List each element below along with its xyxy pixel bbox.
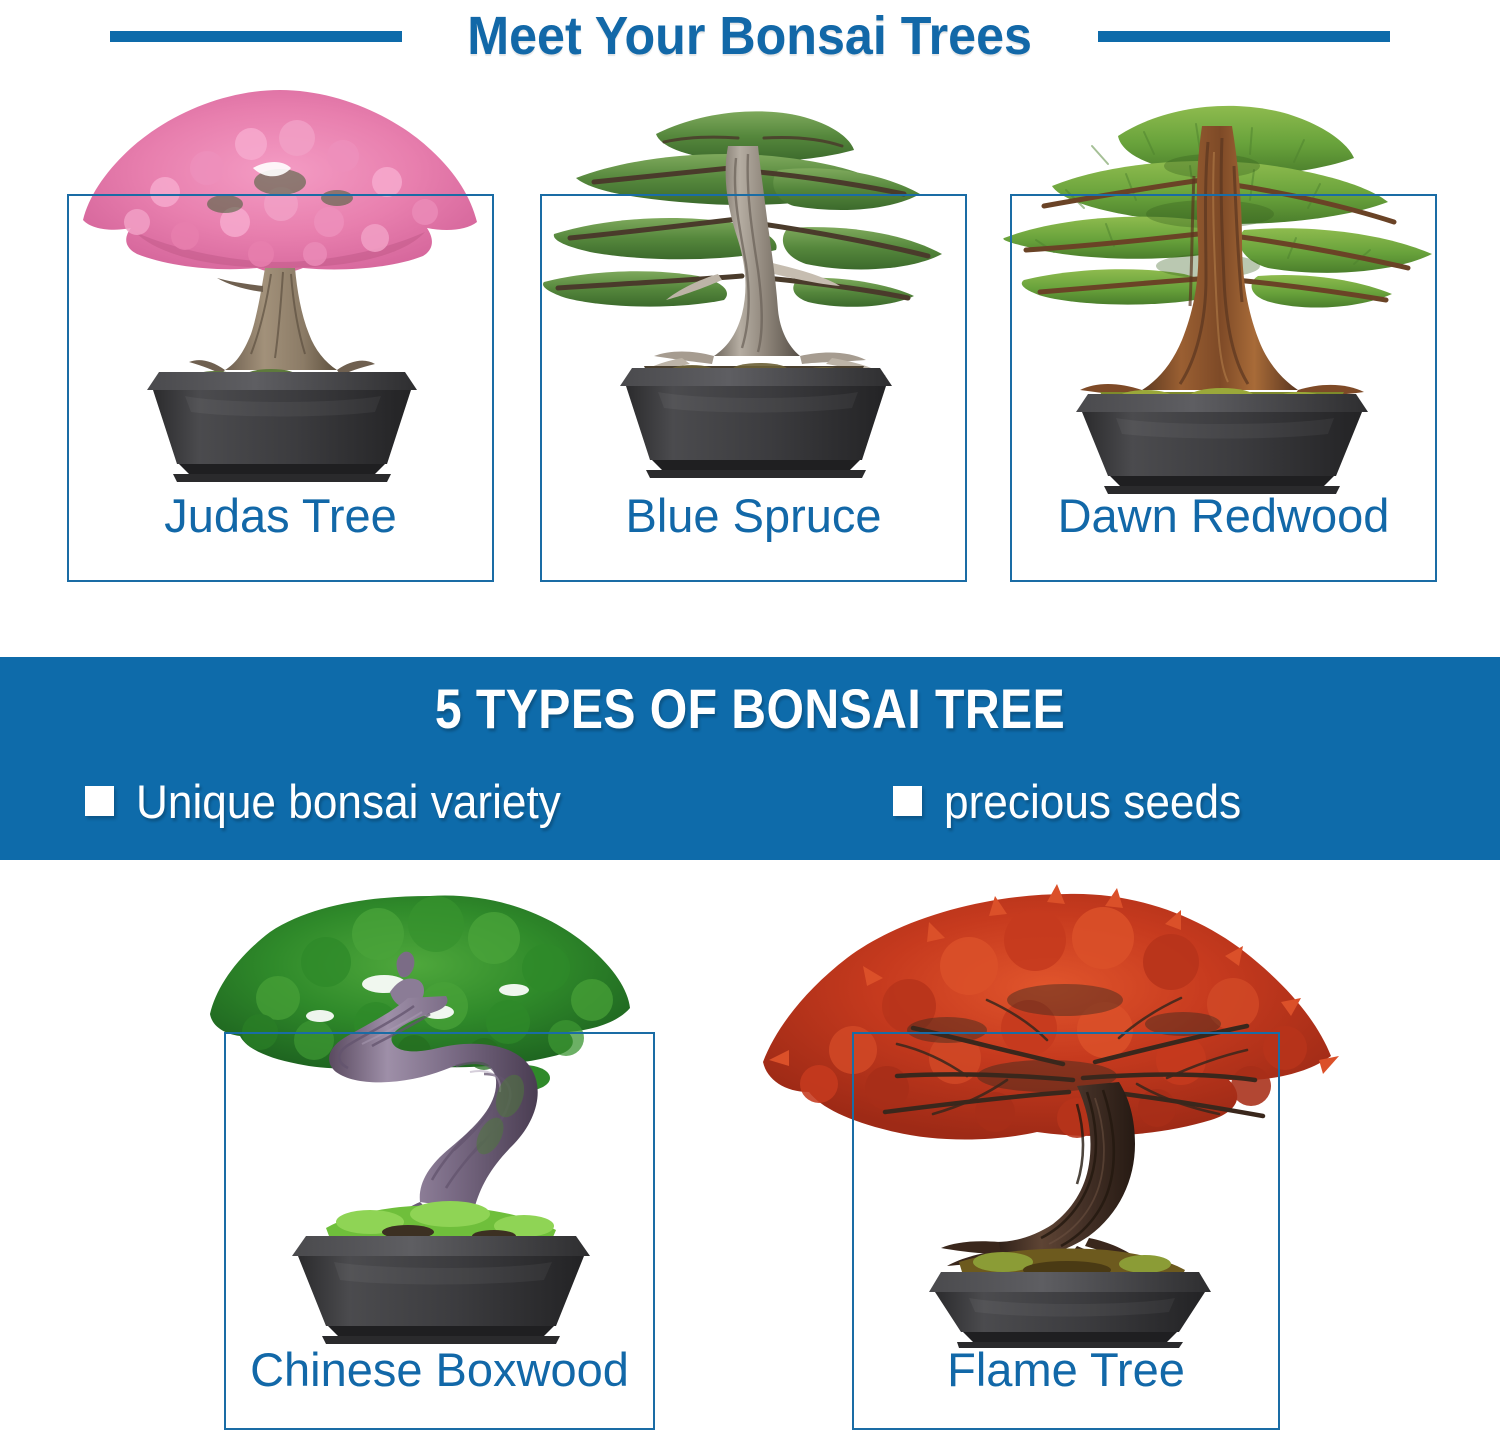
header-rule-right (1098, 31, 1390, 42)
bonsai-card-row-bottom: Chinese Boxwood (0, 872, 1500, 1430)
page-header: Meet Your Bonsai Trees (0, 0, 1500, 72)
square-bullet-icon (893, 786, 922, 816)
bonsai-card-blue-spruce[interactable]: Blue Spruce (540, 72, 967, 582)
bonsai-card-flame-tree[interactable]: Flame Tree (852, 880, 1280, 1430)
bonsai-card-dawn-redwood[interactable]: Dawn Redwood (1010, 72, 1437, 582)
header-rule-left (110, 31, 402, 42)
page-title: Meet Your Bonsai Trees (427, 9, 1074, 63)
promo-banner: 5 TYPES OF BONSAI TREE Unique bonsai var… (0, 657, 1500, 860)
promo-banner-bullet-list: Unique bonsai variety precious seeds (0, 767, 1500, 837)
bonsai-card-blue-spruce-label: Blue Spruce (540, 492, 967, 539)
promo-bullet-label: precious seeds (944, 778, 1241, 825)
promo-banner-heading: 5 TYPES OF BONSAI TREE (105, 681, 1395, 737)
bonsai-product-infographic: Meet Your Bonsai Trees (0, 0, 1500, 1430)
bonsai-card-flame-tree-label: Flame Tree (852, 1346, 1280, 1393)
promo-bullet-label: Unique bonsai variety (136, 778, 561, 825)
bonsai-card-chinese-boxwood-label: Chinese Boxwood (224, 1346, 655, 1393)
bonsai-card-judas-tree[interactable]: Judas Tree (67, 72, 494, 582)
bonsai-card-dawn-redwood-label: Dawn Redwood (1010, 492, 1437, 539)
bonsai-card-row-top: Judas Tree (0, 72, 1500, 632)
promo-bullet-unique-variety: Unique bonsai variety (85, 773, 588, 829)
square-bullet-icon (85, 786, 114, 816)
bonsai-card-judas-tree-label: Judas Tree (67, 492, 494, 539)
promo-bullet-precious-seeds: precious seeds (893, 773, 1260, 829)
bonsai-card-chinese-boxwood[interactable]: Chinese Boxwood (224, 880, 655, 1430)
